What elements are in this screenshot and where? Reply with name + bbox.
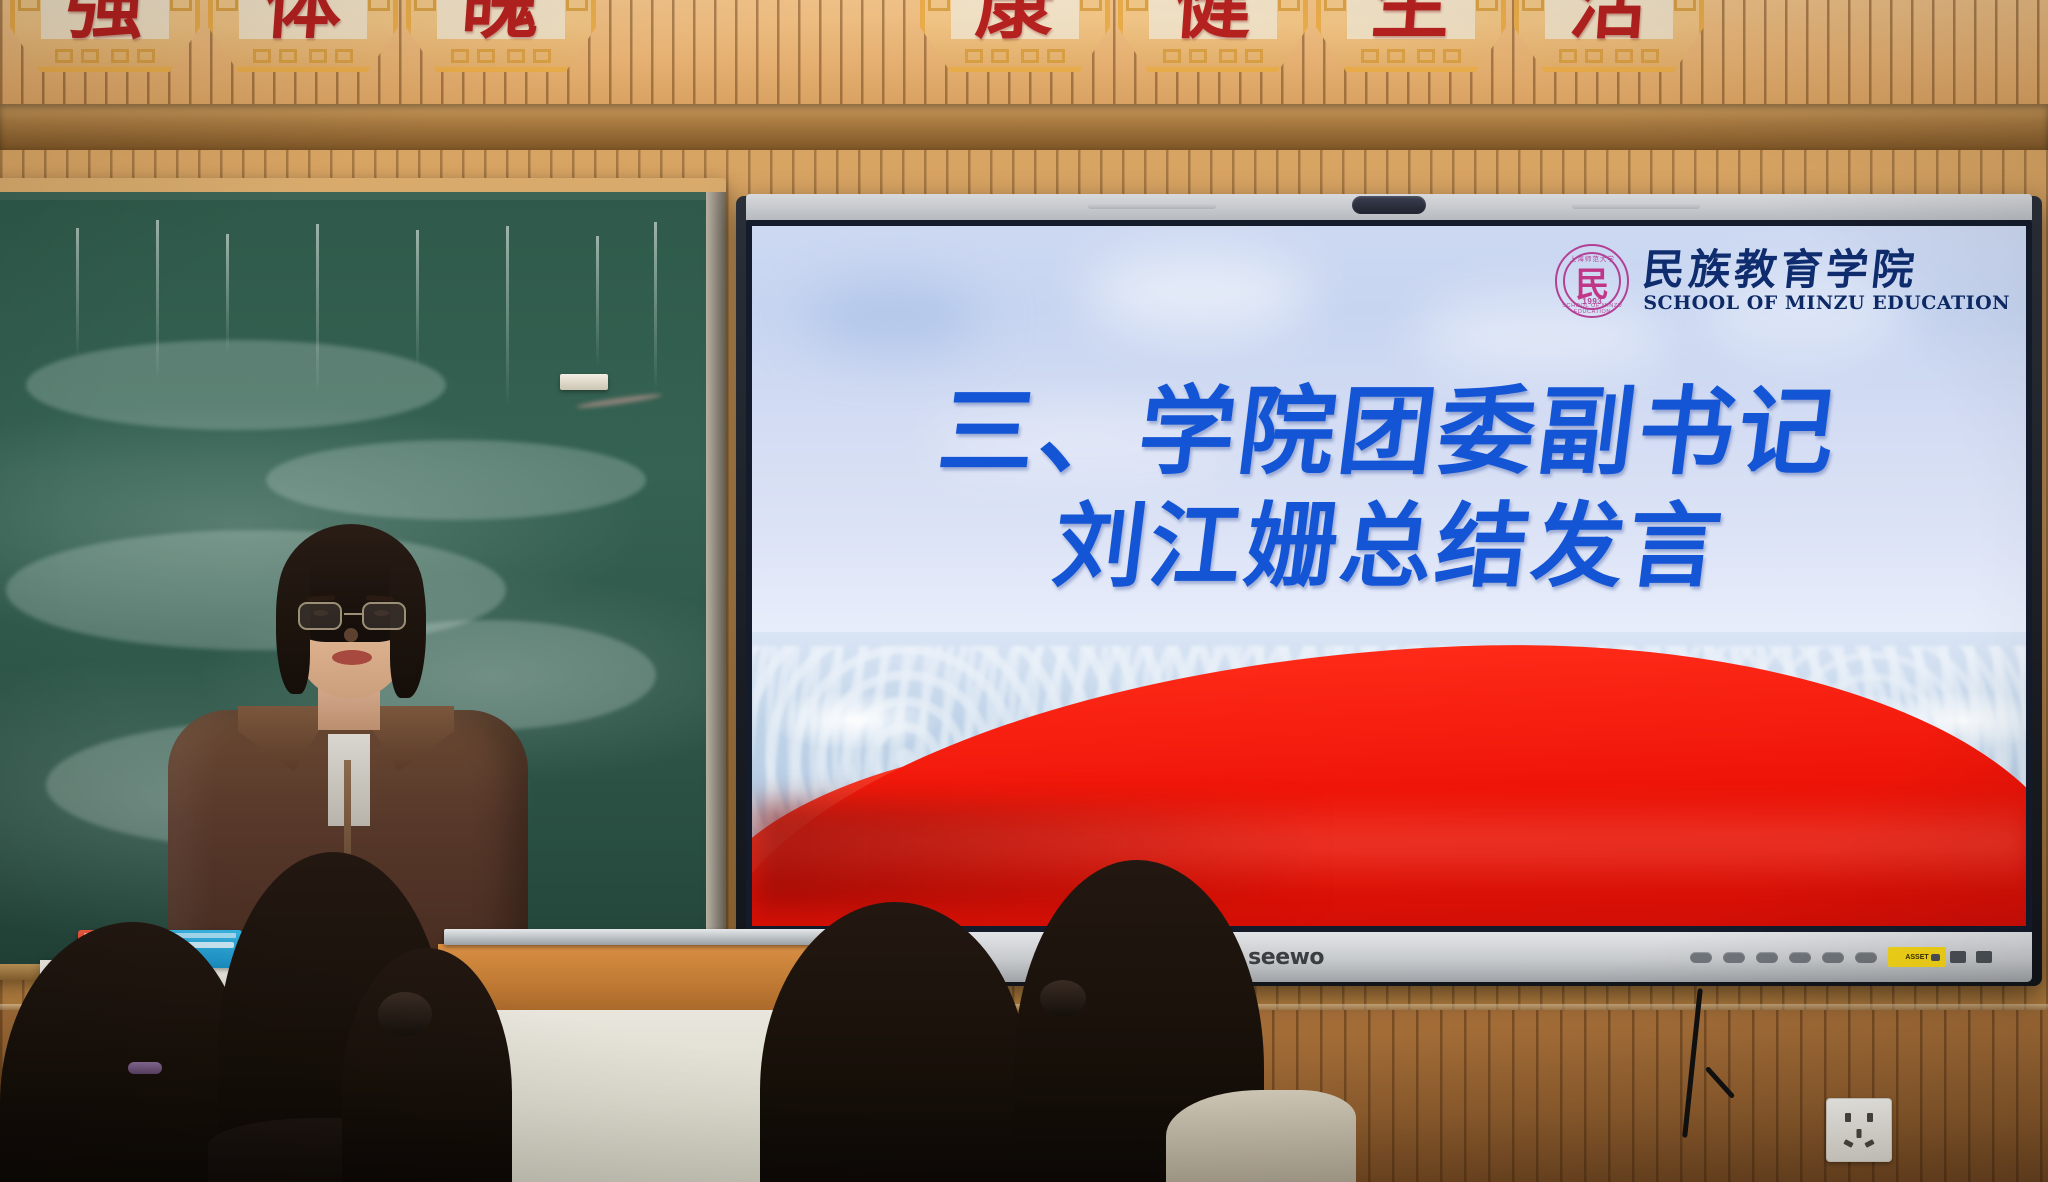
chalkboard-eraser[interactable] (560, 374, 608, 390)
hw-button[interactable] (1789, 952, 1811, 963)
slide-title-line-1: 三、学院团委副书记 (752, 373, 2026, 490)
fret-ornament (477, 49, 495, 63)
plaque-glyph: 康 (973, 0, 1056, 44)
fret-ornament (1080, 0, 1102, 11)
chalk-stroke (506, 226, 509, 406)
school-logo-text: 民族教育学院 SCHOOL OF MINZU EDUCATION (1643, 249, 2010, 314)
plaque-glyph: 体 (261, 0, 344, 44)
plaque-glyph: 生 (1369, 0, 1452, 44)
socket-slot (1867, 1113, 1873, 1122)
fret-ornament (1522, 0, 1544, 11)
chalk-smudge (26, 340, 446, 430)
fret-ornament (507, 49, 525, 63)
banner-plaque: 魄 (406, 0, 596, 72)
plaque-glyph: 健 (1171, 0, 1254, 44)
glasses-lens-left (298, 602, 342, 630)
audience-member-5 (1014, 860, 1264, 1182)
chalkboard-right-edge (706, 192, 726, 978)
fret-ornament (368, 0, 390, 11)
banner-plaque: 活 (1514, 0, 1704, 72)
school-name-english: SCHOOL OF MINZU EDUCATION (1643, 292, 2010, 314)
photo-stage: 强 体 魄 康 (0, 0, 2048, 1182)
fret-ornament (1615, 49, 1633, 63)
chalk-stroke (596, 236, 599, 366)
cloud-wisp (1083, 254, 1313, 334)
seewo-interactive-display[interactable]: 三、学院团委副书记 刘江姗总结发言 上海师范大学 民 1993 SCHOOL O… (736, 196, 2042, 986)
hw-button[interactable] (1756, 952, 1778, 963)
fret-ornament (1641, 49, 1659, 63)
fret-ornament (81, 49, 99, 63)
fret-ornament (1324, 0, 1346, 11)
chalk-stroke (226, 234, 229, 354)
red-ribbon-graphic (752, 562, 2026, 926)
hdmi-port-icon[interactable] (1950, 951, 1966, 963)
shoulder (1166, 1090, 1356, 1182)
plaque-card: 强 (41, 0, 169, 39)
fret-ornament (170, 0, 192, 11)
fret-ornament (1219, 49, 1237, 63)
chalk-mark-pink (576, 392, 662, 410)
fret-ornament (1245, 49, 1263, 63)
fret-ornament (279, 49, 297, 63)
chalk-stroke (654, 222, 657, 392)
chalk-stroke (156, 220, 159, 380)
fret-ornament (1559, 49, 1577, 63)
hw-button[interactable] (1855, 952, 1877, 963)
fret-ornament (1189, 49, 1207, 63)
fret-ornament (309, 49, 327, 63)
fret-ornament (566, 0, 588, 11)
audience-member-4 (760, 902, 1030, 1182)
socket-slot (1857, 1129, 1862, 1138)
fret-ornament (1163, 49, 1181, 63)
hair-clip (128, 1062, 162, 1074)
display-screen-bezel: 三、学院团委副书记 刘江姗总结发言 上海师范大学 民 1993 SCHOOL O… (746, 220, 2032, 932)
plaque-glyph: 魄 (459, 0, 542, 44)
plaque-card: 生 (1347, 0, 1475, 39)
display-hardware-buttons[interactable]: ASSET (1690, 947, 1946, 967)
fret-ornament (965, 49, 983, 63)
banner-plaque: 体 (208, 0, 398, 72)
plaque-glyph: 活 (1567, 0, 1650, 44)
socket-slot (1864, 1139, 1874, 1148)
display-top-bezel (746, 194, 2032, 220)
hw-button[interactable] (1723, 952, 1745, 963)
school-seal-icon: 上海师范大学 民 1993 SCHOOL OF MINZU EDUCATION (1555, 244, 1629, 318)
fret-ornament (1674, 0, 1696, 11)
banner-plaque: 生 (1316, 0, 1506, 72)
presentation-slide[interactable]: 三、学院团委副书记 刘江姗总结发言 上海师范大学 民 1993 SCHOOL O… (752, 226, 2026, 926)
microphone-array-left (1088, 203, 1216, 209)
chalk-stroke (316, 224, 319, 394)
wall-upper-band (0, 104, 2048, 150)
fret-ornament (335, 49, 353, 63)
mouth (332, 650, 372, 665)
wall-power-socket[interactable] (1826, 1098, 1892, 1162)
fret-ornament (414, 0, 436, 11)
fret-ornament (216, 0, 238, 11)
hair-tie (1040, 980, 1086, 1016)
banner-plaque: 康 (920, 0, 1110, 72)
school-name-chinese: 民族教育学院 (1641, 249, 2012, 291)
chalk-stroke (416, 230, 419, 370)
seal-arc-bottom-text: SCHOOL OF MINZU EDUCATION (1557, 303, 1627, 315)
aux-port-icon[interactable] (1976, 951, 1992, 963)
glasses-bridge (344, 613, 362, 615)
hw-button[interactable] (1822, 952, 1844, 963)
hair (760, 902, 1030, 1182)
plaque-card: 魄 (437, 0, 565, 39)
fret-ornament (451, 49, 469, 63)
socket-slot (1843, 1139, 1853, 1148)
school-logo: 上海师范大学 民 1993 SCHOOL OF MINZU EDUCATION … (1555, 244, 2010, 318)
chalk-stroke (76, 228, 79, 358)
camera-icon (1352, 196, 1426, 214)
fret-ornament (928, 0, 950, 11)
plaque-glyph: 强 (63, 0, 146, 44)
usb-port-icon[interactable] (1931, 954, 1940, 961)
fret-ornament (1387, 49, 1405, 63)
plaque-card: 活 (1545, 0, 1673, 39)
hair-scrunchie (378, 992, 432, 1036)
socket-slot (1845, 1113, 1851, 1122)
fret-ornament (1476, 0, 1498, 11)
fret-ornament (1585, 49, 1603, 63)
fret-ornament (1047, 49, 1065, 63)
fret-ornament (1126, 0, 1148, 11)
fret-ornament (137, 49, 155, 63)
display-io-ports[interactable] (1931, 951, 1992, 963)
plaque-card: 体 (239, 0, 367, 39)
fret-ornament (533, 49, 551, 63)
fret-ornament (1021, 49, 1039, 63)
banner-plaque: 强 (10, 0, 200, 72)
microphone-array-right (1572, 203, 1700, 209)
fret-ornament (1278, 0, 1300, 11)
fret-ornament (991, 49, 1009, 63)
fret-ornament (1361, 49, 1379, 63)
fret-ornament (1443, 49, 1461, 63)
plaque-card: 康 (951, 0, 1079, 39)
fret-ornament (18, 0, 40, 11)
fret-ornament (55, 49, 73, 63)
plaque-card: 健 (1149, 0, 1277, 39)
fret-ornament (253, 49, 271, 63)
hair (342, 948, 512, 1182)
chalk-smudge (266, 440, 646, 520)
audience-member-3 (342, 948, 512, 1182)
cloud-wisp (803, 282, 983, 352)
banner-plaque: 健 (1118, 0, 1308, 72)
nose (344, 628, 358, 642)
hw-button[interactable] (1690, 952, 1712, 963)
glasses-lens-right (362, 602, 406, 630)
fret-ornament (1417, 49, 1435, 63)
fret-ornament (111, 49, 129, 63)
